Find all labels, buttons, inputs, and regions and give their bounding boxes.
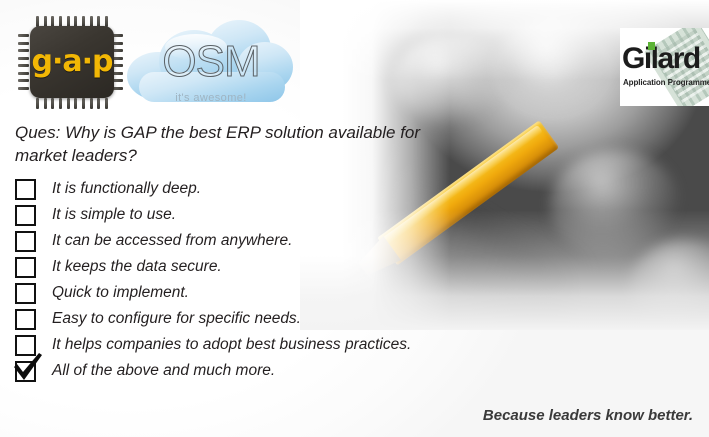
checkbox-unchecked[interactable]	[15, 205, 36, 226]
option-label: It can be accessed from anywhere.	[52, 232, 292, 250]
checkbox-unchecked[interactable]	[15, 179, 36, 200]
gap-logo-text: g·a·p	[32, 47, 113, 77]
gilard-tagline: Application Programmers	[623, 78, 709, 87]
options-list: It is functionally deep.It is simple to …	[15, 176, 485, 384]
slide-canvas: g·a·p OSM it's awesome! Gilard Applicati…	[0, 0, 709, 437]
gilard-logo: Gilard Application Programmers	[620, 28, 709, 106]
osm-cloud-logo: OSM it's awesome!	[125, 16, 295, 112]
option-row[interactable]: All of the above and much more.	[15, 358, 485, 384]
checkbox-checked[interactable]	[15, 361, 36, 382]
option-row[interactable]: It is functionally deep.	[15, 176, 485, 202]
checkbox-unchecked[interactable]	[15, 335, 36, 356]
gilard-green-accent-icon	[648, 42, 655, 50]
checkbox-unchecked[interactable]	[15, 257, 36, 278]
option-row[interactable]: It can be accessed from anywhere.	[15, 228, 485, 254]
option-label: Easy to configure for specific needs.	[52, 310, 301, 328]
option-label: It is functionally deep.	[52, 180, 201, 198]
footer-tagline: Because leaders know better.	[483, 407, 693, 424]
chip-body: g·a·p	[30, 26, 114, 98]
checkbox-unchecked[interactable]	[15, 283, 36, 304]
option-row[interactable]: Easy to configure for specific needs.	[15, 306, 485, 332]
option-label: It keeps the data secure.	[52, 258, 222, 276]
osm-tagline: it's awesome!	[131, 92, 291, 104]
chip-pins-left	[18, 34, 30, 90]
gap-chip-logo: g·a·p	[16, 14, 126, 110]
osm-logo-text: OSM	[131, 40, 291, 84]
option-label: Quick to implement.	[52, 284, 189, 302]
question-text: Ques: Why is GAP the best ERP solution a…	[15, 122, 435, 168]
chip-pins-bottom	[36, 98, 108, 109]
checkbox-unchecked[interactable]	[15, 309, 36, 330]
option-label: It helps companies to adopt best busines…	[52, 336, 411, 354]
option-label: All of the above and much more.	[52, 362, 275, 380]
option-row[interactable]: It is simple to use.	[15, 202, 485, 228]
option-row[interactable]: It helps companies to adopt best busines…	[15, 332, 485, 358]
option-row[interactable]: Quick to implement.	[15, 280, 485, 306]
option-label: It is simple to use.	[52, 206, 176, 224]
gilard-logo-text: Gilard	[622, 44, 700, 74]
option-row[interactable]: It keeps the data secure.	[15, 254, 485, 280]
checkbox-unchecked[interactable]	[15, 231, 36, 252]
